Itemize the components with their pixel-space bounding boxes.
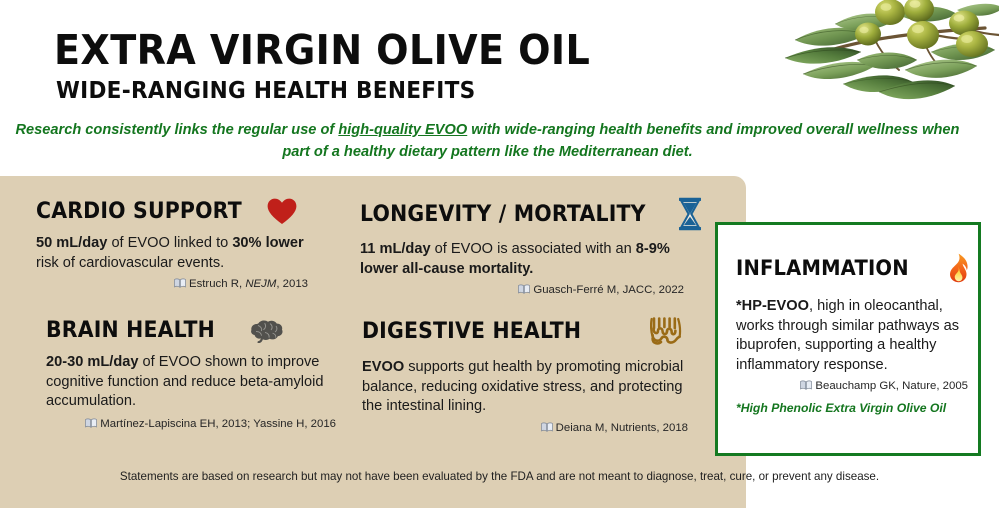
citation-author: Martínez-Lapiscina EH, 2013; Yassine H, … (100, 418, 336, 430)
citation: Martínez-Lapiscina EH, 2013; Yassine H, … (46, 417, 336, 430)
card-cardio-support: CARDIO SUPPORT 50 mL/day of EVOO linked … (36, 198, 336, 290)
card-title: BRAIN HEALTH (46, 318, 215, 343)
card-body: EVOO supports gut health by promoting mi… (362, 358, 688, 417)
page-title: EXTRA VIRGIN OLIVE OIL (54, 25, 590, 75)
body-highlight: 20-30 mL/day (46, 354, 138, 370)
intro-paragraph: Research consistently links the regular … (0, 119, 975, 163)
card-longevity-mortality: LONGEVITY / MORTALITY 11 mL/day of EVOO … (360, 197, 690, 296)
citation: Beauchamp GK, Nature, 2005 (736, 379, 968, 392)
body-highlight: 50 mL/day (36, 235, 107, 251)
body-text-2: risk of cardiovascular events. (36, 255, 224, 271)
hourglass-icon (677, 197, 703, 231)
card-header: LONGEVITY / MORTALITY (360, 197, 690, 231)
body-text: of EVOO is associated with an (431, 241, 636, 257)
citation-author: Guasch-Ferré M, JACC, 2022 (533, 284, 684, 296)
citation-author: Beauchamp GK, Nature, 2005 (815, 380, 968, 392)
card-header: BRAIN HEALTH (46, 318, 346, 343)
citation: Estruch R, NEJM, 2013 (36, 277, 308, 290)
card-body: 20-30 mL/day of EVOO shown to improve co… (46, 353, 336, 412)
fire-icon (946, 253, 970, 283)
card-brain-health: BRAIN HEALTH 20-30 mL/day of EVOO shown … (46, 318, 346, 430)
body-highlight: 11 mL/day (360, 241, 431, 257)
body-highlight-2: 30% lower (232, 235, 303, 251)
open-book-icon (174, 278, 186, 291)
card-body: 11 mL/day of EVOO is associated with an … (360, 240, 684, 279)
citation-journal: NEJM (245, 278, 276, 290)
card-title: INFLAMMATION (736, 256, 909, 280)
card-body: 50 mL/day of EVOO linked to 30% lower ri… (36, 234, 308, 273)
citation: Guasch-Ferré M, JACC, 2022 (360, 283, 684, 296)
heart-icon (267, 198, 297, 225)
intro-emphasis: high-quality EVOO (338, 122, 467, 138)
body-text: supports gut health by promoting microbi… (362, 359, 683, 414)
olive-branch-icon (771, 0, 999, 108)
header-band: EXTRA VIRGIN OLIVE OIL WIDE-RANGING HEAL… (0, 0, 999, 176)
body-text: of EVOO linked to (107, 235, 232, 251)
disclaimer-text: Statements are based on research but may… (0, 470, 999, 483)
card-header: CARDIO SUPPORT (36, 198, 336, 225)
citation-author: Deiana M, Nutrients, 2018 (556, 422, 688, 434)
card-digestive-health: DIGESTIVE HEALTH EVOO supports gut h (362, 316, 692, 434)
citation-year: , 2013 (276, 278, 308, 290)
card-header: INFLAMMATION (736, 253, 962, 283)
page-subtitle: WIDE-RANGING HEALTH BENEFITS (56, 77, 476, 105)
card-inflammation: INFLAMMATION *HP-EVOO, high in oleocanth… (715, 222, 981, 456)
intestines-icon (650, 316, 682, 346)
footnote: *High Phenolic Extra Virgin Olive Oil (736, 401, 962, 415)
citation: Deiana M, Nutrients, 2018 (362, 421, 688, 434)
citation-author: Estruch R, (189, 278, 245, 290)
open-book-icon (85, 418, 97, 431)
brain-icon (250, 319, 284, 343)
card-title: LONGEVITY / MORTALITY (360, 202, 646, 227)
body-highlight: *HP-EVOO (736, 298, 809, 314)
card-header: DIGESTIVE HEALTH (362, 316, 692, 346)
open-book-icon (541, 422, 553, 435)
card-title: DIGESTIVE HEALTH (362, 319, 581, 344)
body-highlight: EVOO (362, 359, 404, 375)
open-book-icon (518, 284, 530, 297)
open-book-icon (800, 380, 812, 393)
card-title: CARDIO SUPPORT (36, 199, 242, 224)
card-body: *HP-EVOO, high in oleocanthal, works thr… (736, 297, 968, 375)
intro-text-part-1: Research consistently links the regular … (16, 122, 339, 138)
